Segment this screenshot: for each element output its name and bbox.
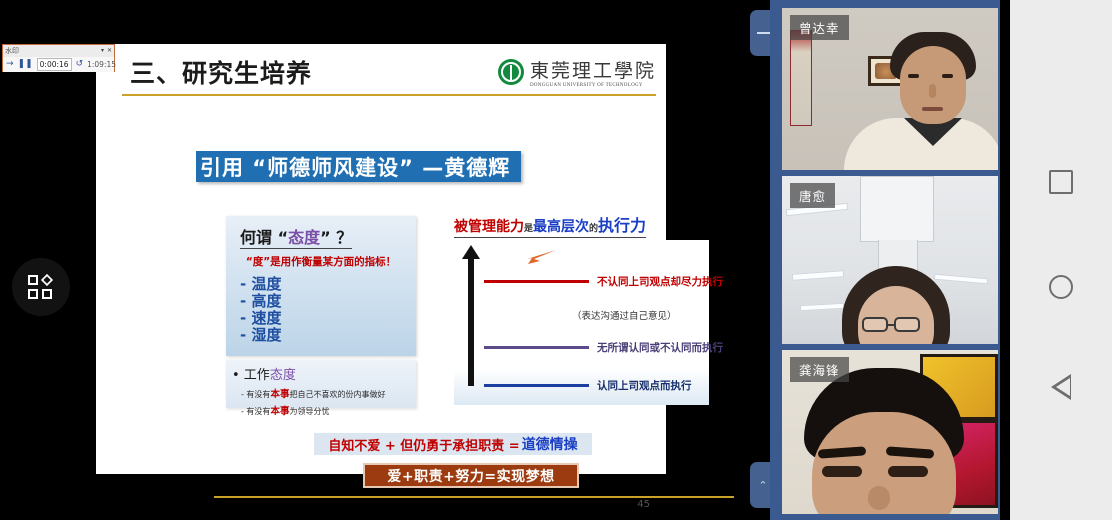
mouth	[922, 107, 943, 111]
eye-right	[942, 74, 953, 78]
glasses-bridge	[888, 324, 894, 326]
tier-label: 不认同上司观点却尽力执行	[597, 274, 723, 289]
work-attitude-box: • 工作态度 - 有没有本事把自己不喜欢的份内事做好 - 有没有本事为领导分忧	[226, 360, 416, 408]
player-window-buttons[interactable]: ▾ ✕	[101, 48, 112, 54]
participant-name-label: 唐愈	[790, 183, 835, 208]
participant-video-tile[interactable]: 龚海锋	[782, 350, 998, 514]
dt-b: 是	[524, 224, 533, 234]
replay-icon[interactable]: ↺	[76, 60, 84, 69]
list-item: - 速度	[240, 310, 416, 327]
wa-pre: • 工作	[232, 368, 270, 383]
list-item: - 高度	[240, 293, 416, 310]
bl1-b: 道德情操	[522, 434, 578, 454]
dt-e: 执行力	[598, 216, 646, 235]
red-arrow-icon	[526, 250, 556, 264]
total-time: 1:09:15	[87, 60, 116, 69]
nose	[929, 84, 936, 98]
participant-video-tile[interactable]: 曾达幸	[782, 8, 998, 170]
attitude-list: - 温度 - 高度 - 速度 - 湿度	[240, 276, 416, 344]
ceiling-light	[934, 274, 988, 285]
participant-name-label: 龚海锋	[790, 357, 849, 382]
q-pre: 何谓 “	[240, 228, 288, 247]
header-rule	[122, 94, 656, 96]
triangle-left-icon[interactable]	[1051, 374, 1071, 400]
dt-d: 的	[589, 224, 598, 234]
slide-header: 三、研究生培养 東莞理工學院 DONGGUAN UNIVERSITY OF TE…	[96, 44, 666, 102]
tier-bar	[484, 280, 589, 283]
work-attitude-heading: • 工作态度	[232, 364, 410, 383]
ceiling-duct	[860, 176, 934, 242]
list-item: - 湿度	[240, 327, 416, 344]
university-seal-icon	[498, 59, 524, 85]
screen-root: 水印 ▾ ✕ → ❚❚ 0:00:16 ↺ 1:09:15 三、研究生培养	[0, 0, 1112, 520]
circle-icon[interactable]	[1049, 275, 1073, 299]
play-icon[interactable]: →	[6, 60, 14, 69]
q-highlight: 态度	[288, 228, 320, 247]
b2-post: 为领导分忧	[289, 407, 329, 416]
eye-right	[888, 466, 928, 477]
close-icon[interactable]: ✕	[107, 48, 112, 54]
eye-left	[822, 466, 862, 477]
diagram-body: 不认同上司观点却尽力执行 （表达沟通过自己意见） 无所谓认同或不认同而执行 认同…	[454, 240, 709, 405]
wall-poster	[790, 30, 812, 126]
tier-label: 认同上司观点而执行	[597, 378, 692, 393]
slide-title: 三、研究生培养	[130, 54, 312, 90]
right-gutter	[1000, 0, 1010, 520]
left-gutter	[0, 0, 10, 520]
player-titlebar: 水印 ▾ ✕	[3, 45, 114, 57]
glasses-left-lens	[862, 317, 888, 332]
university-logo: 東莞理工學院 DONGGUAN UNIVERSITY OF TECHNOLOGY	[498, 56, 656, 88]
b1-pre: - 有没有	[241, 390, 270, 399]
slide-page-number: 45	[637, 499, 650, 510]
b2-pre: - 有没有	[241, 407, 270, 416]
b1-strong: 本事	[270, 389, 289, 400]
player-transport-row[interactable]: → ❚❚ 0:00:16 ↺ 1:09:15	[3, 57, 114, 72]
dream-formula-banner: 爱+职责+努力=实现梦想	[363, 463, 579, 488]
university-name-en: DONGGUAN UNIVERSITY OF TECHNOLOGY	[530, 83, 656, 88]
b1-post: 把自己不喜欢的份内事做好	[289, 390, 385, 399]
tier-row: 不认同上司观点却尽力执行	[484, 274, 723, 289]
player-title: 水印	[5, 48, 101, 55]
slide-banner: 引用 “师德师风建设” —黄德辉	[196, 151, 521, 182]
attitude-definition-box: 何谓 “态度” ？ “度”是用作衡量某方面的指标！ - 温度 - 高度 - 速度…	[226, 216, 416, 356]
tier-bar	[484, 384, 589, 387]
tier-label: 无所谓认同或不认同而执行	[597, 340, 723, 355]
work-attitude-bullet: - 有没有本事把自己不喜欢的份内事做好	[241, 386, 410, 400]
diagram-title: 被管理能力是最高层次的执行力	[454, 212, 646, 238]
pause-icon[interactable]: ❚❚	[18, 60, 33, 69]
dt-a: 被管理能力	[454, 219, 524, 235]
moral-sentiment-line: 自知不爱 + 但仍勇于承担职责 =道德情操	[314, 433, 592, 455]
eye-left	[908, 74, 919, 78]
nose	[868, 486, 890, 510]
ceiling-light	[792, 270, 844, 281]
q-tail: ” ？	[320, 228, 352, 247]
attitude-question: 何谓 “态度” ？	[240, 216, 352, 249]
caret-down-icon[interactable]: ▾	[101, 48, 104, 54]
shared-screen-stage: 水印 ▾ ✕ → ❚❚ 0:00:16 ↺ 1:09:15 三、研究生培养	[0, 0, 750, 520]
media-player-control[interactable]: 水印 ▾ ✕ → ❚❚ 0:00:16 ↺ 1:09:15	[2, 44, 115, 72]
assistive-touch-button[interactable]	[12, 258, 70, 316]
b2-strong: 本事	[270, 406, 289, 417]
wa-highlight: 态度	[270, 368, 296, 383]
current-time: 0:00:16	[37, 58, 72, 71]
university-name-cn: 東莞理工學院	[530, 56, 656, 83]
execution-hierarchy-diagram: 被管理能力是最高层次的执行力 不认同上司观点却尽力执行 （表达沟通过自己意见）	[454, 212, 709, 407]
participant-video-tile[interactable]: 唐愈	[782, 176, 998, 344]
attitude-subtitle: “度”是用作衡量某方面的指标！	[226, 254, 416, 269]
square-icon[interactable]	[1049, 170, 1073, 194]
minus-icon	[757, 32, 770, 34]
footer-rule	[214, 496, 734, 498]
tier-row: 认同上司观点而执行	[484, 378, 692, 393]
bl1-a: 自知不爱 + 但仍勇于承担职责 =	[328, 435, 519, 454]
participant-name-label: 曾达幸	[790, 15, 849, 40]
tier-row: 无所谓认同或不认同而执行	[484, 340, 723, 355]
diagram-note: （表达沟通过自己意见）	[572, 308, 677, 322]
ceiling-light	[800, 303, 844, 311]
glasses-right-lens	[894, 317, 920, 332]
apps-grid-icon	[28, 275, 54, 299]
up-arrow-axis-icon	[468, 258, 474, 386]
android-navigation-bar	[1010, 0, 1112, 520]
participant-video-sidebar: 曾达幸 唐愈	[770, 0, 1010, 520]
list-item: - 温度	[240, 276, 416, 293]
tier-bar	[484, 346, 589, 349]
dt-c: 最高层次	[533, 219, 589, 235]
work-attitude-bullet: - 有没有本事为领导分忧	[241, 403, 410, 417]
presentation-slide: 三、研究生培养 東莞理工學院 DONGGUAN UNIVERSITY OF TE…	[96, 44, 666, 474]
